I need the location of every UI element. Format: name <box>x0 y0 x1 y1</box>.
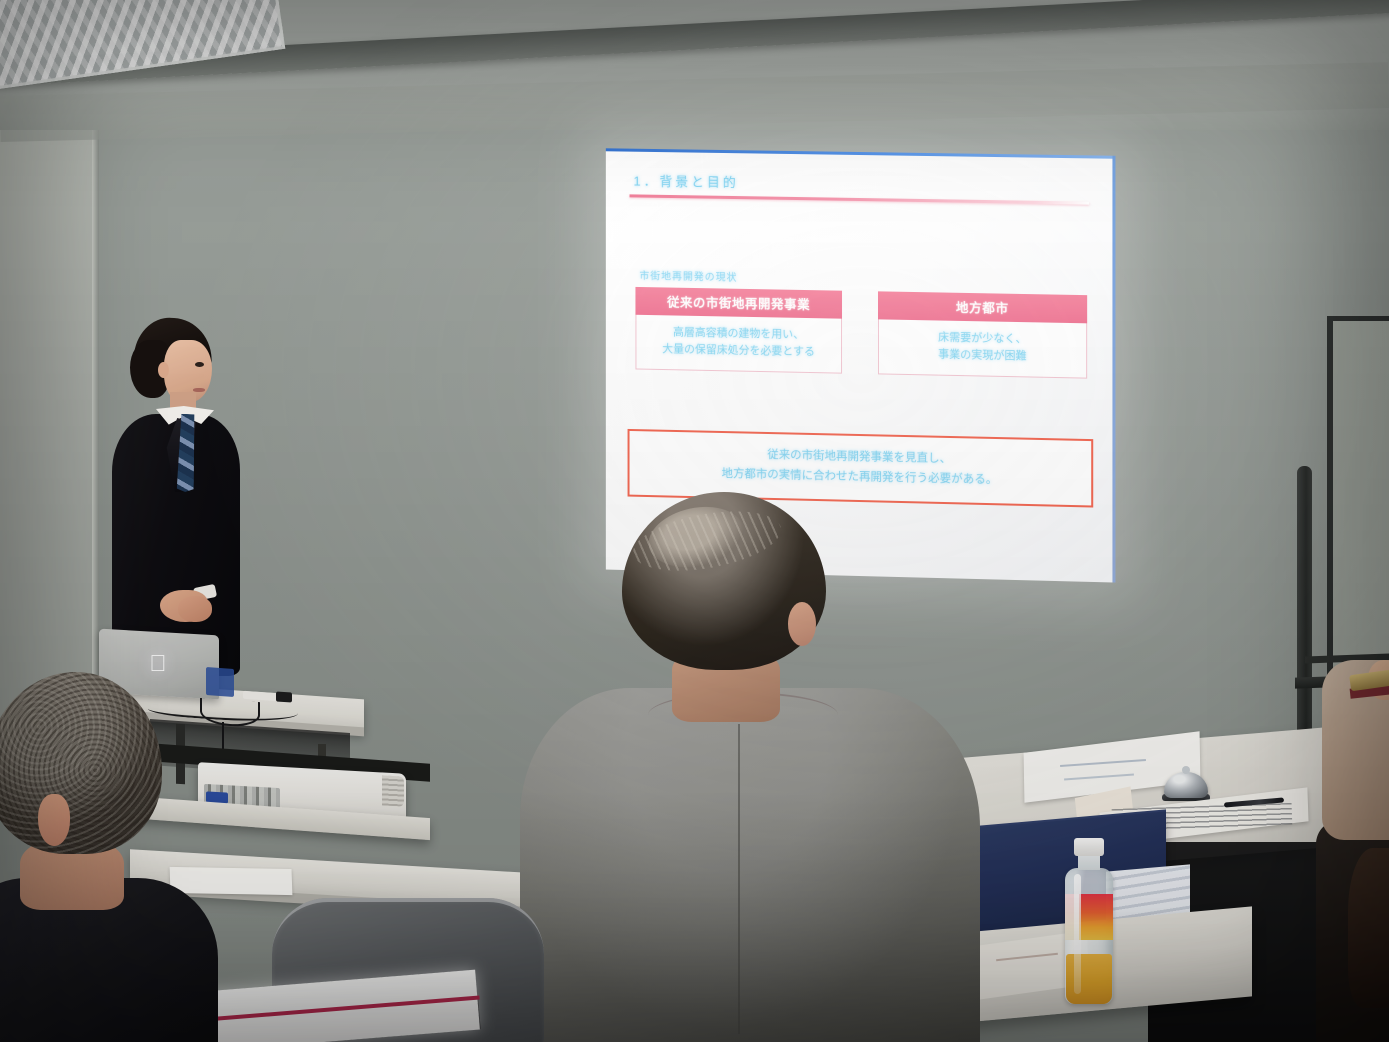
column-body: 高層高容積の建物を用い、 大量の保留床処分を必要とする <box>635 315 842 374</box>
presenter-eye <box>195 362 204 367</box>
pet-bottle[interactable] <box>1062 838 1116 1004</box>
bottle-neck <box>1078 854 1100 870</box>
column-body: 床需要が少なく、 事業の実現が困難 <box>878 319 1087 378</box>
slide-columns: 従来の市街地再開発事業 高層高容積の建物を用い、 大量の保留床処分を必要とする … <box>626 287 1096 379</box>
slide-column-left: 従来の市街地再開発事業 高層高容積の建物を用い、 大量の保留床処分を必要とする <box>635 287 842 374</box>
column-header: 地方都市 <box>878 291 1087 323</box>
bell-knob[interactable] <box>1182 766 1190 774</box>
presenter-ear <box>158 362 169 378</box>
left-wall-panel <box>0 72 96 772</box>
whiteboard <box>1327 316 1389 676</box>
bottle-cap[interactable] <box>1074 838 1104 856</box>
presenter <box>92 318 242 668</box>
column-body-line: 大量の保留床処分を必要とする <box>640 341 837 362</box>
column-header: 従来の市街地再開発事業 <box>635 287 842 319</box>
laptop-blue-object <box>206 667 234 697</box>
suit-center-seam <box>738 724 740 1034</box>
audience-member-right <box>1322 660 1389 1042</box>
dongle-plug <box>276 691 292 702</box>
hair <box>1348 848 1389 1008</box>
projector-vent <box>382 775 404 806</box>
slide-column-right: 地方都市 床需要が少なく、 事業の実現が困難 <box>878 291 1087 378</box>
slide-title: 1．背景と目的 <box>633 171 1095 197</box>
bottle-liquid <box>1066 954 1112 1004</box>
audience-member-left <box>0 672 196 1042</box>
hair-texture <box>0 672 162 854</box>
slide-section-label: 市街地再開発の現状 <box>639 267 1095 290</box>
audience-member-center <box>520 492 1000 1042</box>
slide-title-rule <box>630 194 1090 204</box>
bottle-highlight <box>1074 874 1081 994</box>
whiteboard-post <box>1297 466 1312 756</box>
column-body-line: 事業の実現が困難 <box>883 346 1082 367</box>
ear <box>788 602 816 646</box>
presenter-hand-second <box>178 596 212 622</box>
projection-edge-right <box>1112 156 1115 583</box>
ear <box>38 794 70 846</box>
suit-shadow <box>520 792 980 1042</box>
conference-room-photo: 1．背景と目的 市街地再開発の現状 従来の市街地再開発事業 高層高容積の建物を用… <box>0 0 1389 1042</box>
